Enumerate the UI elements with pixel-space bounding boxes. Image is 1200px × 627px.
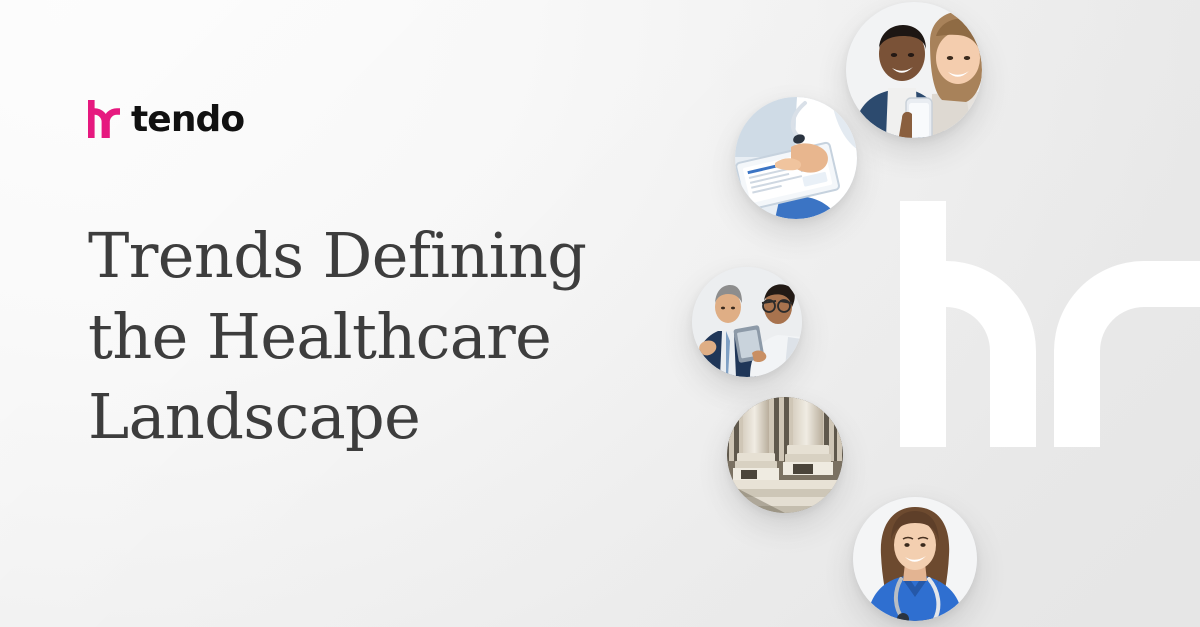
nurse-photo <box>853 497 977 621</box>
executives-meeting-photo <box>692 267 802 377</box>
page-title: Trends Defining the Healthcare Landscape <box>88 216 648 458</box>
photo-bubble-executives <box>692 267 802 377</box>
photo-bubble-columns <box>727 397 843 513</box>
government-columns-photo <box>727 397 843 513</box>
clinician-tablet-photo <box>735 97 857 219</box>
tendo-watermark-mark <box>900 201 1200 447</box>
hero-banner: tendo Trends Defining the Healthcare Lan… <box>0 0 1200 627</box>
photo-bubble-couple <box>846 2 982 138</box>
photo-bubble-clinician-tablet <box>735 97 857 219</box>
tendo-wordmark: tendo <box>131 102 244 138</box>
couple-mobile-photo <box>846 2 982 138</box>
headline-line-2: the Healthcare <box>88 297 648 378</box>
tendo-logo-mark-icon <box>88 100 120 138</box>
headline-line-1: Trends Defining <box>88 216 648 297</box>
photo-bubble-nurse <box>853 497 977 621</box>
headline-line-3: Landscape <box>88 377 648 458</box>
tendo-logo[interactable]: tendo <box>88 100 244 138</box>
